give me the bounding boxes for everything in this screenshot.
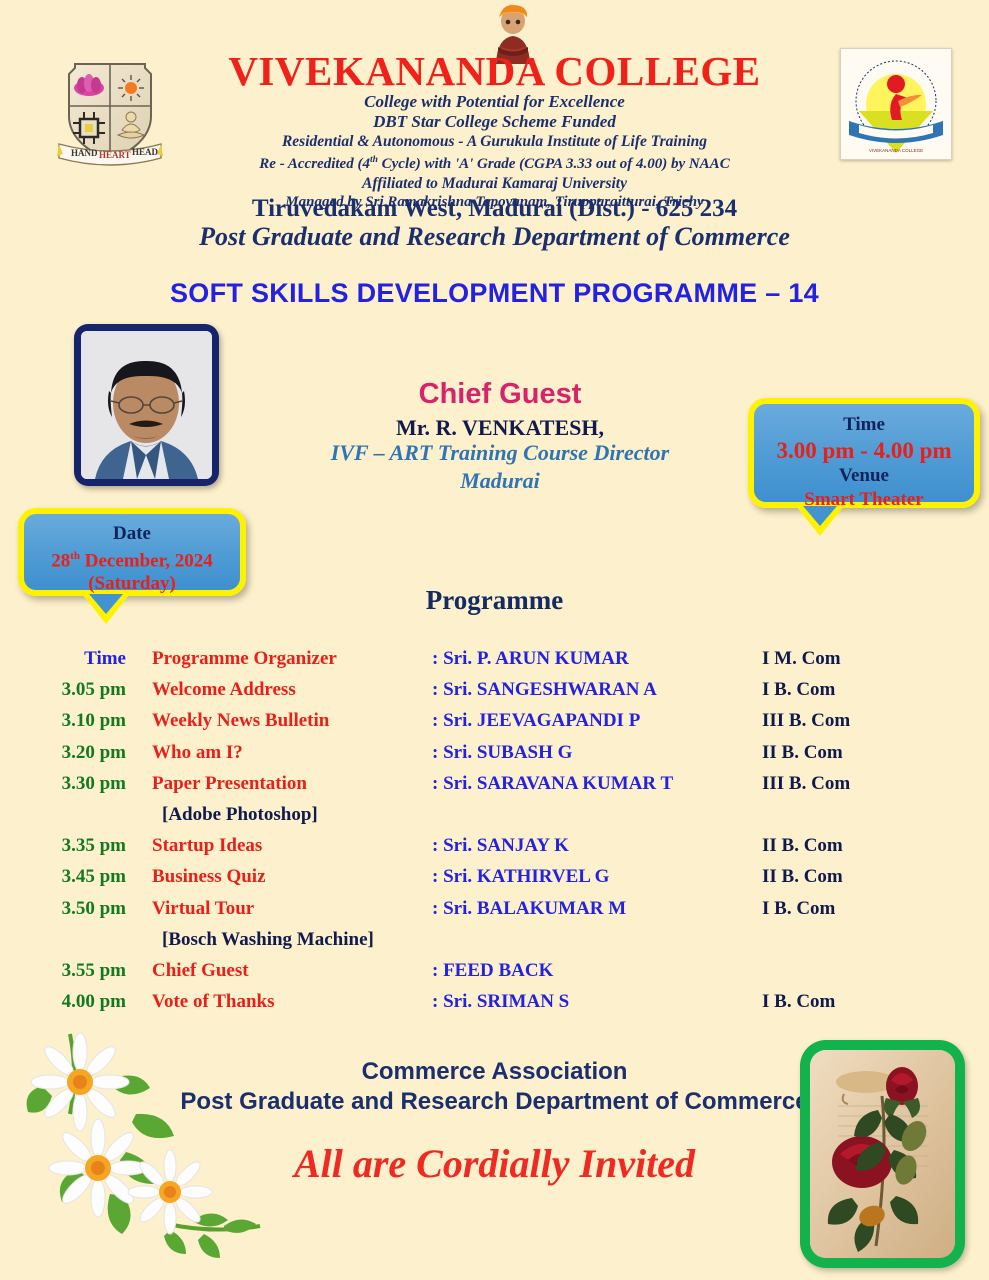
- programme-row: TimeProgramme Organizer: Sri. P. ARUN KU…: [0, 643, 989, 674]
- chief-guest-heading: Chief Guest: [250, 378, 750, 411]
- date-label: Date: [24, 522, 240, 545]
- programme-row-class: [762, 799, 989, 830]
- programme-row-person: : FEED BACK: [432, 955, 762, 986]
- rose-illustration: [810, 1050, 955, 1258]
- programme-row-person: [432, 799, 762, 830]
- programme-row: 3.55 pmChief Guest: FEED BACK: [0, 955, 989, 986]
- programme-row-time: 3.10 pm: [0, 705, 152, 736]
- chief-guest-photo: [81, 331, 212, 479]
- programme-row-person: : Sri. SARAVANA KUMAR T: [432, 768, 762, 799]
- programme-row-activity: Weekly News Bulletin: [152, 705, 432, 736]
- programme-row-person: : Sri. BALAKUMAR M: [432, 893, 762, 924]
- chief-guest-role: IVF – ART Training Course Director: [250, 440, 750, 466]
- programme-row: 4.00 pmVote of Thanks: Sri. SRIMAN SI B.…: [0, 986, 989, 1017]
- venue-value: Smart Theater: [754, 488, 974, 512]
- programme-title: SOFT SKILLS DEVELOPMENT PROGRAMME – 14: [0, 278, 989, 309]
- college-name: VIVEKANANDA COLLEGE: [0, 47, 989, 95]
- programme-row: [Bosch Washing Machine]: [0, 924, 989, 955]
- programme-row-activity: Who am I?: [152, 737, 432, 768]
- programme-row-person: : Sri. KATHIRVEL G: [432, 861, 762, 892]
- rose-illustration-frame: [800, 1040, 965, 1268]
- programme-row-class: [762, 955, 989, 986]
- programme-table: TimeProgramme Organizer: Sri. P. ARUN KU…: [0, 643, 989, 1017]
- programme-row-person: : Sri. SRIMAN S: [432, 986, 762, 1017]
- programme-row-class: I B. Com: [762, 893, 989, 924]
- programme-row-activity: Paper Presentation: [152, 768, 432, 799]
- time-value: 3.00 pm - 4.00 pm: [754, 437, 974, 464]
- invitation-poster: HAND HEART HEAD VIVEKANANDA CO: [0, 0, 989, 1280]
- programme-row-class: I M. Com: [762, 643, 989, 674]
- programme-row-activity: Startup Ideas: [152, 830, 432, 861]
- college-taglines: College with Potential for Excellence DB…: [0, 92, 989, 212]
- programme-row-time: 3.45 pm: [0, 861, 152, 892]
- programme-row-activity: Chief Guest: [152, 955, 432, 986]
- programme-row: 3.50 pmVirtual Tour: Sri. BALAKUMAR MI B…: [0, 893, 989, 924]
- programme-row-class: I B. Com: [762, 674, 989, 705]
- programme-row-activity: Business Quiz: [152, 861, 432, 892]
- programme-row: 3.10 pmWeekly News Bulletin: Sri. JEEVAG…: [0, 705, 989, 736]
- programme-row-person: : Sri. JEEVAGAPANDI P: [432, 705, 762, 736]
- programme-row-time: 3.20 pm: [0, 737, 152, 768]
- chief-guest-photo-frame: [74, 324, 219, 486]
- date-value: 28th December, 2024: [24, 545, 240, 572]
- programme-row-activity: [Bosch Washing Machine]: [152, 924, 432, 955]
- tagline-affiliation: Affiliated to Madurai Kamaraj University: [0, 174, 989, 193]
- programme-row-class: II B. Com: [762, 830, 989, 861]
- programme-row-person: : Sri. P. ARUN KUMAR: [432, 643, 762, 674]
- programme-row-class: [762, 924, 989, 955]
- programme-row-time: 4.00 pm: [0, 986, 152, 1017]
- programme-row-class: II B. Com: [762, 737, 989, 768]
- programme-row-time: [0, 924, 152, 955]
- programme-row-activity: Programme Organizer: [152, 643, 432, 674]
- programme-row: 3.05 pmWelcome Address: Sri. SANGESHWARA…: [0, 674, 989, 705]
- tagline-accreditation: Re - Accredited (4th Cycle) with 'A' Gra…: [0, 151, 989, 174]
- programme-row-time: [0, 799, 152, 830]
- time-venue-callout: Time 3.00 pm - 4.00 pm Venue Smart Theat…: [748, 398, 980, 508]
- programme-row-class: III B. Com: [762, 705, 989, 736]
- date-callout: Date 28th December, 2024 (Saturday): [18, 508, 246, 596]
- chief-guest-name: Mr. R. VENKATESH,: [250, 415, 750, 441]
- programme-row-person: : Sri. SANGESHWARAN A: [432, 674, 762, 705]
- programme-row-class: I B. Com: [762, 986, 989, 1017]
- time-label: Time: [754, 413, 974, 437]
- programme-row: 3.20 pmWho am I?: Sri. SUBASH GII B. Com: [0, 737, 989, 768]
- programme-row-time: Time: [0, 643, 152, 674]
- programme-row-activity: Virtual Tour: [152, 893, 432, 924]
- tagline-residential: Residential & Autonomous - A Gurukula In…: [0, 132, 989, 151]
- programme-row-activity: [Adobe Photoshop]: [152, 799, 432, 830]
- programme-row-person: [432, 924, 762, 955]
- programme-row-person: : Sri. SUBASH G: [432, 737, 762, 768]
- programme-row-time: 3.30 pm: [0, 768, 152, 799]
- programme-heading: Programme: [0, 585, 989, 616]
- venue-label: Venue: [754, 464, 974, 488]
- college-address: Tiruvedakam West, Madurai (Dist.) - 625 …: [0, 195, 989, 223]
- programme-row: 3.30 pmPaper Presentation: Sri. SARAVANA…: [0, 768, 989, 799]
- programme-row-person: : Sri. SANJAY K: [432, 830, 762, 861]
- programme-row: [Adobe Photoshop]: [0, 799, 989, 830]
- programme-row-activity: Vote of Thanks: [152, 986, 432, 1017]
- chief-guest-city: Madurai: [250, 468, 750, 494]
- programme-row-time: 3.05 pm: [0, 674, 152, 705]
- programme-row: 3.35 pmStartup Ideas: Sri. SANJAY KII B.…: [0, 830, 989, 861]
- programme-row-class: II B. Com: [762, 861, 989, 892]
- programme-row-activity: Welcome Address: [152, 674, 432, 705]
- department-name: Post Graduate and Research Department of…: [0, 222, 989, 252]
- programme-row-time: 3.55 pm: [0, 955, 152, 986]
- programme-row-time: 3.50 pm: [0, 893, 152, 924]
- programme-row: 3.45 pmBusiness Quiz: Sri. KATHIRVEL GII…: [0, 861, 989, 892]
- callout-tail: [796, 506, 844, 536]
- tagline-dbt: DBT Star College Scheme Funded: [0, 112, 989, 132]
- tagline-excellence: College with Potential for Excellence: [0, 92, 989, 112]
- programme-row-time: 3.35 pm: [0, 830, 152, 861]
- programme-row-class: III B. Com: [762, 768, 989, 799]
